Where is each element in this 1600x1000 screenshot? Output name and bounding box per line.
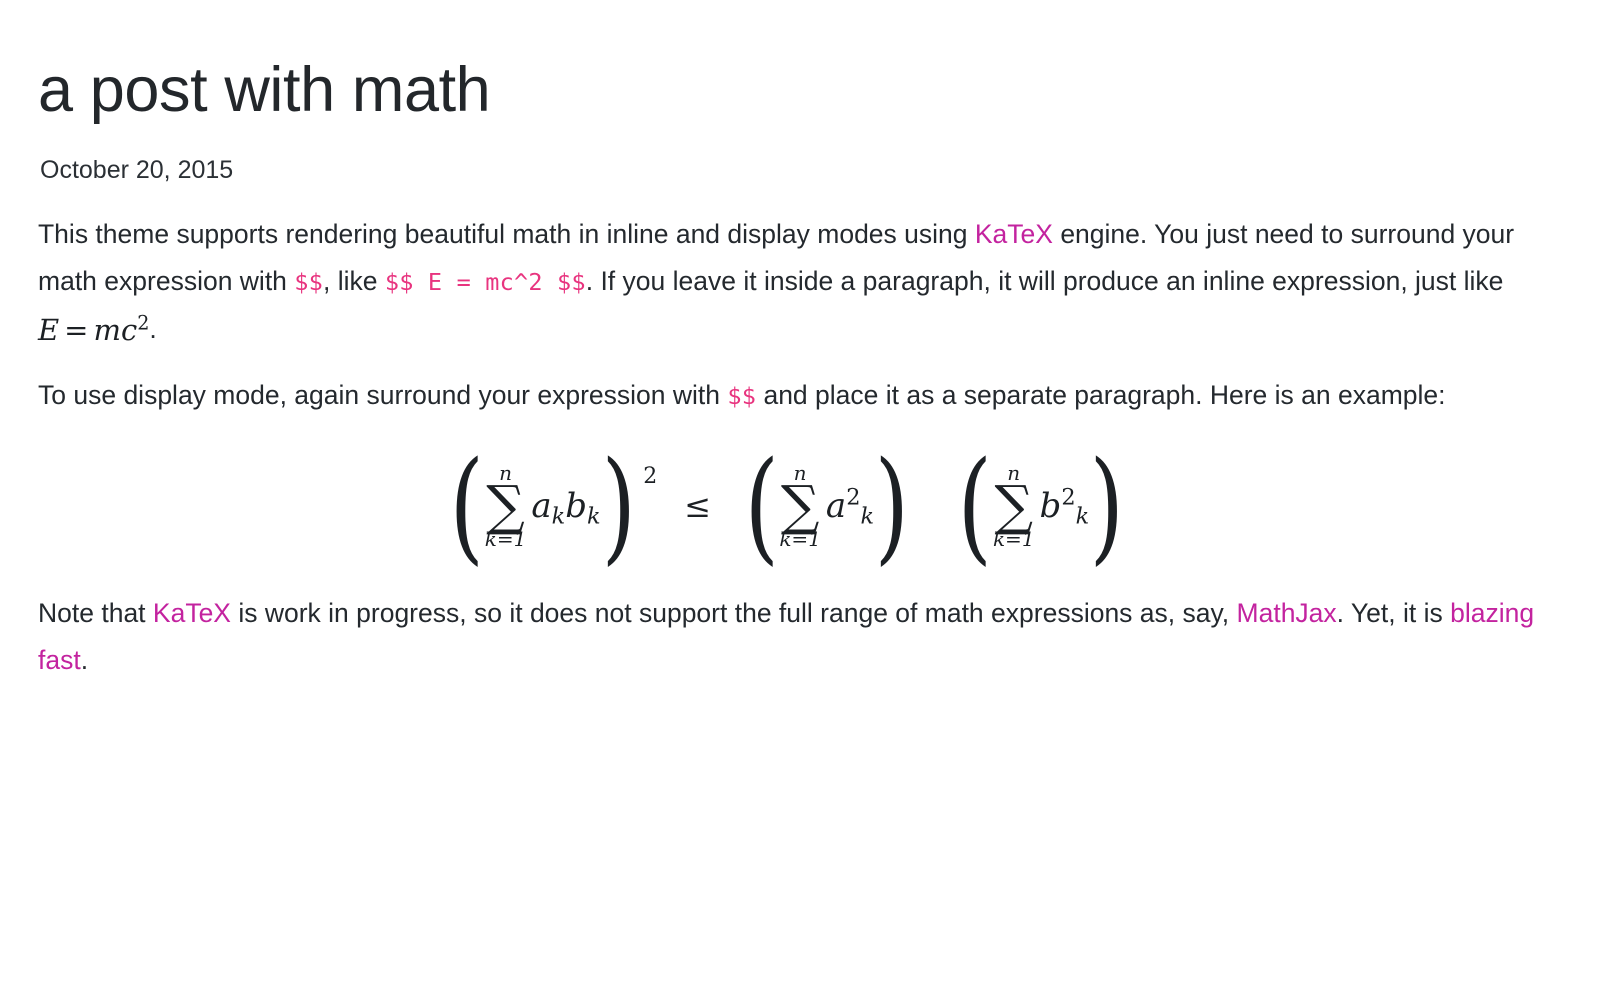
math-sub-k: k [552, 503, 566, 529]
paren-right-icon: ) [875, 460, 909, 553]
math-relation-leq: ≤ [668, 490, 727, 522]
text-segment: is work in progress, so it does not supp… [231, 598, 1237, 628]
paren-left-icon: ( [450, 460, 484, 553]
paragraph-1: This theme supports rendering beautiful … [38, 211, 1536, 357]
sigma-icon: ∑ [993, 481, 1035, 531]
math-var-m: m [93, 313, 121, 347]
text-segment: , like [323, 266, 385, 296]
math-var-c: c [121, 313, 137, 347]
post-content: This theme supports rendering beautiful … [38, 211, 1536, 685]
math-var-E: E [38, 313, 59, 347]
math-sub-k: k [587, 503, 601, 529]
text-segment: To use display mode, again surround your… [38, 380, 727, 410]
math-var-a: a [826, 486, 846, 526]
lower-limit: k=1 [779, 529, 821, 549]
cauchy-schwarz-inequality: (n∑k=1akbk)2 ≤ (n∑k=1a2k) (n∑k=1b2k) [443, 460, 1131, 553]
math-exponent-2: 2 [137, 311, 149, 334]
paren-right-icon: ) [1090, 460, 1124, 553]
text-segment: . [81, 645, 88, 675]
link-mathjax[interactable]: MathJax [1237, 598, 1337, 628]
paren-left-icon: ( [744, 460, 778, 553]
code-dollar-delimiters: $$ [294, 268, 323, 296]
math-exponent-2: 2 [643, 466, 657, 488]
math-group-1: (n∑k=1akbk) [443, 460, 642, 553]
paren-left-icon: ( [958, 460, 992, 553]
summand-akbk: akbk [531, 489, 600, 523]
summation-3: n∑k=1 [993, 463, 1035, 550]
summand-bk2: b2k [1040, 489, 1090, 523]
math-var-b: b [1040, 486, 1062, 526]
text-segment: This theme supports rendering beautiful … [38, 219, 975, 249]
link-katex[interactable]: KaTeX [153, 598, 231, 628]
paren-right-icon: ) [601, 460, 635, 553]
summation-1: n∑k=1 [485, 463, 527, 550]
post-page: a post with math October 20, 2015 This t… [0, 0, 1600, 685]
text-segment: . If you leave it inside a paragraph, it… [586, 266, 1504, 296]
inline-math-emc2: E=mc2 [38, 305, 149, 357]
math-exponent-2: 2 [846, 485, 860, 511]
sigma-icon: ∑ [779, 481, 821, 531]
code-emc2-example: $$ E = mc^2 $$ [385, 268, 586, 296]
lower-limit: k=1 [993, 529, 1035, 549]
sigma-icon: ∑ [485, 481, 527, 531]
math-var-a: a [531, 486, 551, 526]
math-group-2: (n∑k=1a2k) [738, 460, 916, 553]
paragraph-2: To use display mode, again surround your… [38, 372, 1536, 419]
page-title: a post with math [38, 56, 1538, 124]
code-dollar-delimiters: $$ [727, 382, 756, 410]
math-sub-k: k [1076, 503, 1090, 529]
math-sub-k: k [860, 503, 874, 529]
summation-2: n∑k=1 [779, 463, 821, 550]
math-exponent-2: 2 [1061, 485, 1075, 511]
link-katex[interactable]: KaTeX [975, 219, 1053, 249]
summand-ak2: a2k [826, 489, 874, 523]
math-group-3: (n∑k=1b2k) [951, 460, 1130, 553]
lower-limit: k=1 [485, 529, 527, 549]
text-segment: Note that [38, 598, 153, 628]
paragraph-3: Note that KaTeX is work in progress, so … [38, 590, 1536, 684]
post-date: October 20, 2015 [40, 154, 1538, 187]
display-equation-block: (n∑k=1akbk)2 ≤ (n∑k=1a2k) (n∑k=1b2k) [38, 460, 1536, 553]
math-op-equals: = [59, 313, 93, 347]
text-segment: . [149, 314, 156, 344]
text-segment: . Yet, it is [1337, 598, 1450, 628]
math-var-b: b [565, 486, 587, 526]
text-segment: and place it as a separate paragraph. He… [756, 380, 1445, 410]
